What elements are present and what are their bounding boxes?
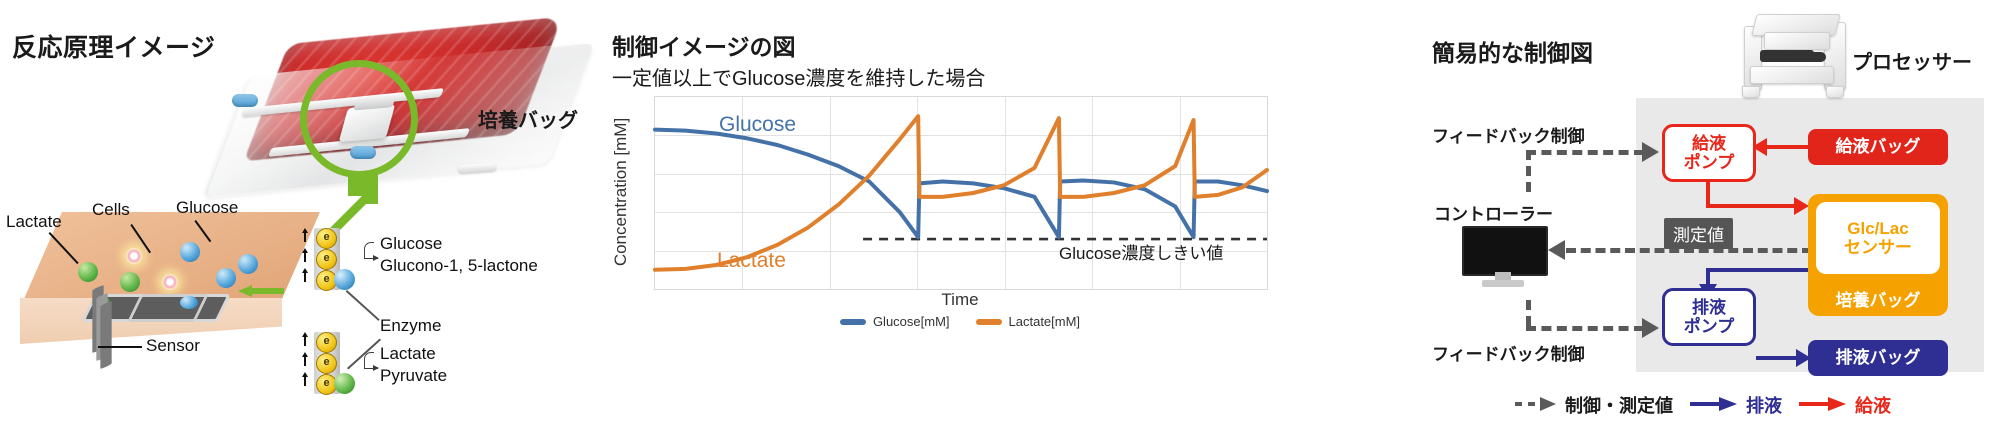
panel-control-chart: 制御イメージの図 一定値以上でGlucose濃度を維持した場合 Concentr… xyxy=(600,0,1420,426)
control-diagram-legend: 制御・測定値排液給液 xyxy=(1514,392,1891,418)
reaction-lactate-product: Pyruvate xyxy=(380,366,447,386)
reaction-lactate-substrate: Lactate xyxy=(380,344,436,364)
sensor-trace xyxy=(100,301,111,370)
measured-value-badge: 測定値 xyxy=(1664,218,1733,249)
node-drain-pump[interactable]: 排液 ポンプ xyxy=(1662,288,1756,346)
chart-title: 制御イメージの図 xyxy=(612,28,796,62)
glucose-molecule xyxy=(238,254,258,274)
electron-flow-arrow xyxy=(304,272,306,282)
chart-annotation-glucose: Glucose xyxy=(719,113,796,137)
control-legend-label: 排液 xyxy=(1746,392,1782,418)
electron-badge: e xyxy=(316,332,337,353)
reaction-arrow-glucose xyxy=(364,258,378,259)
solid-arrow-icon xyxy=(1689,395,1739,416)
enzyme-connector-upper xyxy=(346,290,380,321)
label-cells: Cells xyxy=(92,200,130,220)
chart-legend: Glucose[mM]Lactate[mM] xyxy=(654,314,1266,329)
chart-legend-label: Glucose[mM] xyxy=(873,314,950,329)
enzyme-reaction-diagram: e e e Glucose Glucono-1, 5-lactone Enzym… xyxy=(300,228,590,418)
node-drain-pump-line1: 排液 xyxy=(1692,298,1726,317)
highlight-circle xyxy=(300,60,418,178)
chart-annotation-lactate: Lactate xyxy=(717,249,786,273)
electron-flow-arrow xyxy=(304,376,306,386)
label-glucose: Glucose xyxy=(176,198,238,218)
reaction-glucose-substrate: Glucose xyxy=(380,234,442,254)
panel-control-diagram: 簡易的な制御図 プロセッサー フィードバック制御 コントローラー フィードバック… xyxy=(1420,0,2000,426)
chart-legend-swatch xyxy=(976,319,1002,325)
glucose-molecule xyxy=(180,242,200,262)
label-lactate: Lactate xyxy=(6,212,62,232)
dashed-arrowhead-top xyxy=(1642,142,1659,162)
control-legend-label: 給液 xyxy=(1855,392,1891,418)
dashed-control-line-top-vertical xyxy=(1526,150,1531,192)
node-supply-pump[interactable]: 給液 ポンプ xyxy=(1662,124,1756,182)
electrode-glucose-spot xyxy=(180,296,198,309)
node-culture-bag-label: 培養バッグ xyxy=(1836,291,1921,310)
electron-badge: e xyxy=(316,353,337,374)
drain-flow-pump-to-bag xyxy=(1756,356,1800,360)
control-legend-label: 制御・測定値 xyxy=(1565,392,1673,418)
glucose-molecule xyxy=(216,268,236,288)
lactate-enzyme-sphere xyxy=(334,373,355,394)
electron-flow-arrow xyxy=(304,232,306,242)
processor-label: プロセッサー xyxy=(1852,46,1972,75)
leader-line-sensor xyxy=(98,346,142,348)
chart-threshold-label: Glucose濃度しきい値 xyxy=(1059,239,1223,264)
controller-label: コントローラー xyxy=(1434,200,1553,225)
electron-badge: e xyxy=(316,228,337,249)
chart-legend-item[interactable]: Glucose[mM] xyxy=(840,314,950,329)
glucose-enzyme-sphere xyxy=(334,269,355,290)
green-arrow-left-icon xyxy=(238,284,284,294)
control-panel-title: 簡易的な制御図 xyxy=(1432,34,1593,68)
node-supply-pump-line2: ポンプ xyxy=(1684,153,1735,172)
dashed-arrowhead-controller xyxy=(1548,240,1565,260)
reaction-enzyme-label: Enzyme xyxy=(380,316,441,336)
electron-flow-arrow xyxy=(304,356,306,366)
node-drain-bag[interactable]: 排液バッグ xyxy=(1808,340,1948,376)
label-sensor: Sensor xyxy=(146,336,200,356)
supply-arrowhead-culture-bag xyxy=(1794,197,1809,215)
figure-root: 反応原理イメージ 培養バッグ xyxy=(0,0,2000,426)
lactate-molecule xyxy=(120,272,140,292)
reaction-glucose-product: Glucono-1, 5-lactone xyxy=(380,256,538,276)
control-legend-item-supply[interactable]: 給液 xyxy=(1798,392,1891,418)
processor-photo xyxy=(1738,8,1856,104)
chart-subtitle: 一定値以上でGlucose濃度を維持した場合 xyxy=(612,62,985,91)
feedback-control-label-bottom: フィードバック制御 xyxy=(1432,340,1585,365)
bag-spout xyxy=(458,163,496,174)
electron-flow-arrow xyxy=(304,252,306,262)
node-sensor-line2: センサー xyxy=(1844,238,1912,257)
dashed-control-line-top-horizontal xyxy=(1526,150,1644,155)
electron-flow-arrow xyxy=(304,336,306,346)
control-legend-item-drain[interactable]: 排液 xyxy=(1689,392,1782,418)
lactate-molecule xyxy=(78,262,98,282)
cell-particle xyxy=(126,248,142,264)
chart-x-axis-label: Time xyxy=(654,290,1266,310)
drain-flow-bag-to-pump xyxy=(1706,268,1812,272)
node-glc-lac-sensor[interactable]: Glc/Lac センサー xyxy=(1816,202,1940,274)
node-culture-bag[interactable]: Glc/Lac センサー 培養バッグ xyxy=(1808,194,1948,316)
panel-reaction-principle: 反応原理イメージ 培養バッグ xyxy=(0,0,600,426)
node-drain-pump-line2: ポンプ xyxy=(1684,317,1735,336)
chart-series-glucose xyxy=(655,130,1267,238)
dashed-arrow-icon xyxy=(1514,395,1558,416)
node-sensor-line1: Glc/Lac xyxy=(1847,219,1908,238)
dashed-control-line-bottom-vertical xyxy=(1526,300,1531,326)
supply-flow-bag-to-pump xyxy=(1766,145,1810,149)
solid-arrow-icon xyxy=(1798,395,1848,416)
dashed-arrowhead-bottom xyxy=(1642,318,1659,338)
chart-legend-swatch xyxy=(840,319,866,325)
node-supply-bag[interactable]: 給液バッグ xyxy=(1808,129,1948,165)
electron-badge: e xyxy=(316,249,337,270)
supply-flow-pump-to-bag xyxy=(1706,204,1798,208)
reaction-arrow-lactate xyxy=(364,368,378,369)
reaction-panel-title: 反応原理イメージ xyxy=(12,28,216,64)
node-supply-pump-line1: 給液 xyxy=(1692,134,1726,153)
cell-particle xyxy=(162,274,178,290)
controller-monitor-icon xyxy=(1462,226,1544,288)
chart-legend-item[interactable]: Lactate[mM] xyxy=(976,314,1081,329)
control-legend-item-control-measured[interactable]: 制御・測定値 xyxy=(1514,392,1673,418)
dashed-control-line-bottom-horizontal xyxy=(1526,326,1644,331)
chart-legend-label: Lactate[mM] xyxy=(1009,314,1081,329)
culture-bag-label: 培養バッグ xyxy=(478,104,578,133)
chart-plot-area: Glucose Lactate Glucose濃度しきい値 xyxy=(654,96,1268,290)
chart-y-axis-label: Concentration [mM] xyxy=(610,96,632,288)
feedback-control-label-top: フィードバック制御 xyxy=(1432,122,1585,147)
bag-tube-left xyxy=(232,94,258,107)
